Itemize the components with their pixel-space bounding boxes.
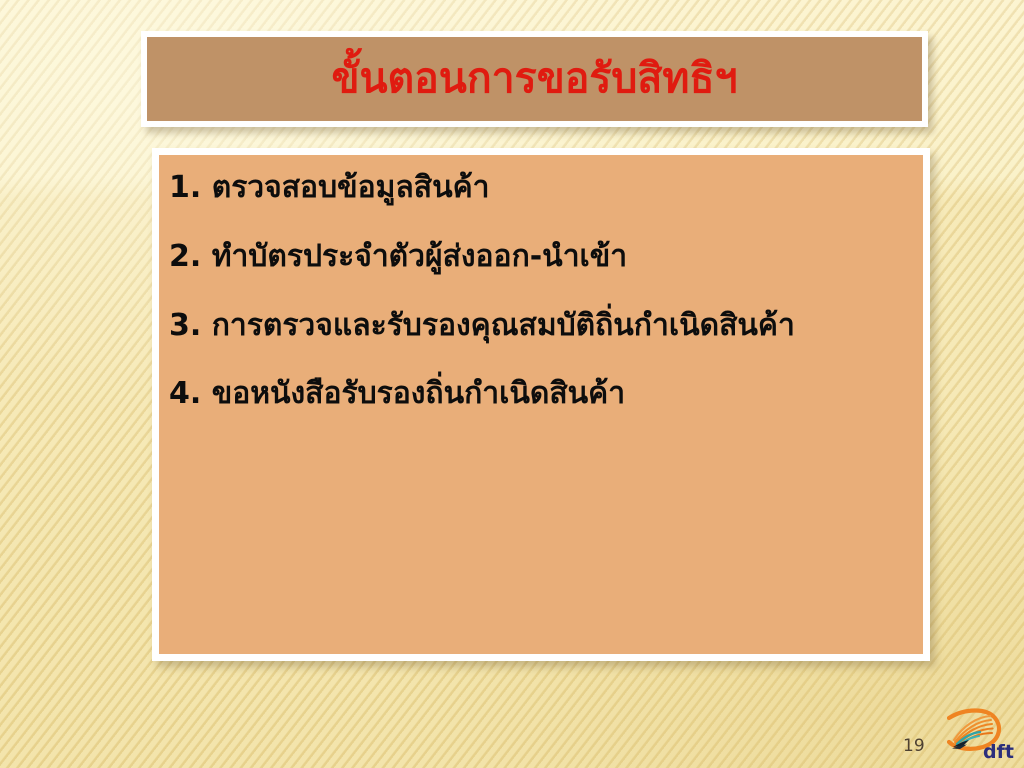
steps-list: 1. ตรวจสอบข้อมูลสินค้า 2. ทำบัตรประจำตัว… [169,171,909,412]
list-item: 2. ทำบัตรประจำตัวผู้ส่งออก-นำเข้า [169,240,909,275]
list-item: 1. ตรวจสอบข้อมูลสินค้า [169,171,909,206]
list-item: 3. การตรวจและรับรองคุณสมบัติถิ่นกำเนิดสิ… [169,309,909,344]
dft-feather-logo: dft [947,704,1017,762]
dft-wordmark: dft [983,741,1014,762]
page-number: 19 [903,736,925,756]
slide-title-plate: ขั้นตอนการขอรับสิทธิฯ [141,31,928,127]
slide-title-fill: ขั้นตอนการขอรับสิทธิฯ [147,37,922,121]
list-item: 4. ขอหนังสือรับรองถิ่นกำเนิดสินค้า [169,377,909,412]
page-title: ขั้นตอนการขอรับสิทธิฯ [332,56,738,101]
dft-logo-icon: dft [947,704,1017,762]
slide-body-plate: 1. ตรวจสอบข้อมูลสินค้า 2. ทำบัตรประจำตัว… [152,148,930,661]
slide-canvas: ขั้นตอนการขอรับสิทธิฯ 1. ตรวจสอบข้อมูลสิ… [0,0,1024,768]
slide-body-fill: 1. ตรวจสอบข้อมูลสินค้า 2. ทำบัตรประจำตัว… [159,155,923,654]
